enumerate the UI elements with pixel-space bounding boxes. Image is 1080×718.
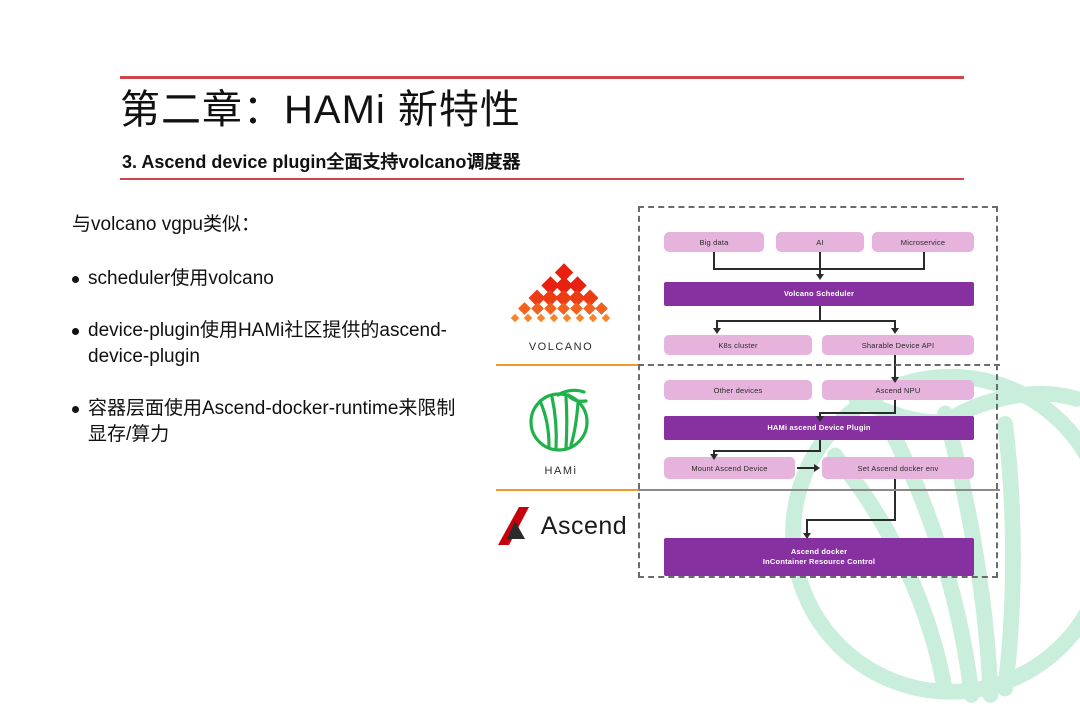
node-big-data[interactable]: Big data	[664, 232, 764, 252]
node-label: Other devices	[714, 386, 763, 395]
node-label-line1: Ascend docker	[791, 547, 847, 557]
node-volcano-scheduler[interactable]: Volcano Scheduler	[664, 282, 974, 306]
bullet-dot-icon	[72, 276, 79, 283]
node-label: AI	[816, 238, 824, 247]
connector	[713, 450, 821, 452]
arrow-head-icon	[891, 328, 899, 334]
node-label: Sharable Device API	[862, 341, 935, 350]
divider-1-dashed	[638, 364, 1000, 366]
hami-melon-icon	[496, 386, 626, 458]
node-ascend-docker[interactable]: Ascend docker InContainer Resource Contr…	[664, 538, 974, 576]
arrow-head-icon	[713, 328, 721, 334]
left-text-column: 与volcano vgpu类似： scheduler使用volcano devi…	[72, 212, 472, 474]
list-item: scheduler使用volcano	[72, 266, 472, 292]
node-sharable-device-api[interactable]: Sharable Device API	[822, 335, 974, 355]
node-label: Microservice	[901, 238, 946, 247]
divider-1-orange	[496, 364, 640, 366]
arrow-head-icon	[816, 274, 824, 280]
list-item: 容器层面使用Ascend-docker-runtime来限制显存/算力	[72, 396, 472, 448]
architecture-diagram: Big data AI Microservice Volcano Schedul…	[638, 206, 998, 578]
node-microservice[interactable]: Microservice	[872, 232, 974, 252]
arrow-head-icon	[816, 416, 824, 422]
hami-logo: HAMi	[496, 386, 626, 482]
node-label: Set Ascend docker env	[858, 464, 939, 473]
node-label: Mount Ascend Device	[691, 464, 767, 473]
page-title: 第二章：HAMi 新特性	[120, 82, 820, 138]
node-label: Big data	[699, 238, 728, 247]
divider-2-gray	[638, 489, 1000, 491]
connector	[716, 320, 896, 322]
hami-logo-caption: HAMi	[496, 465, 626, 477]
volcano-mark-icon	[496, 262, 626, 334]
arrow-head-icon	[891, 377, 899, 383]
ascend-logo: Ascend	[486, 503, 636, 549]
node-label: Ascend NPU	[876, 386, 921, 395]
node-label: Volcano Scheduler	[784, 289, 854, 299]
divider-2-orange	[496, 489, 640, 491]
connector	[923, 252, 925, 268]
arrow-head-icon	[814, 464, 820, 472]
node-set-ascend-docker-env[interactable]: Set Ascend docker env	[822, 457, 974, 479]
connector	[894, 479, 896, 521]
arrow-head-icon	[710, 454, 718, 460]
connector	[819, 306, 821, 320]
list-item: device-plugin使用HAMi社区提供的ascend-device-pl…	[72, 318, 472, 370]
subtitle-rule	[120, 178, 964, 180]
node-ai[interactable]: AI	[776, 232, 864, 252]
page-subtitle: 3. Ascend device plugin全面支持volcano调度器	[122, 150, 882, 174]
connector	[713, 268, 925, 270]
title-rule-top	[120, 76, 964, 79]
bullet-text: device-plugin使用HAMi社区提供的ascend-device-pl…	[88, 318, 472, 370]
lead-text: 与volcano vgpu类似：	[72, 212, 472, 238]
node-label: HAMi ascend Device Plugin	[767, 423, 870, 433]
connector	[797, 467, 815, 469]
connector	[806, 519, 896, 521]
arrow-head-icon	[803, 533, 811, 539]
node-k8s-cluster[interactable]: K8s cluster	[664, 335, 812, 355]
node-other-devices[interactable]: Other devices	[664, 380, 812, 400]
volcano-logo-caption: VOLCANO	[496, 341, 626, 353]
ascend-logo-wordmark: Ascend	[541, 512, 627, 541]
node-label: K8s cluster	[718, 341, 757, 350]
bullet-dot-icon	[72, 406, 79, 413]
bullet-dot-icon	[72, 328, 79, 335]
connector	[894, 355, 896, 379]
ascend-mark-icon	[495, 505, 535, 547]
volcano-logo: VOLCANO	[496, 262, 626, 358]
bullet-text: 容器层面使用Ascend-docker-runtime来限制显存/算力	[88, 396, 472, 448]
node-label-line2: InContainer Resource Control	[763, 557, 875, 567]
connector	[819, 412, 896, 414]
node-mount-ascend-device[interactable]: Mount Ascend Device	[664, 457, 795, 479]
node-ascend-npu[interactable]: Ascend NPU	[822, 380, 974, 400]
connector	[713, 252, 715, 268]
bullet-text: scheduler使用volcano	[88, 266, 274, 292]
